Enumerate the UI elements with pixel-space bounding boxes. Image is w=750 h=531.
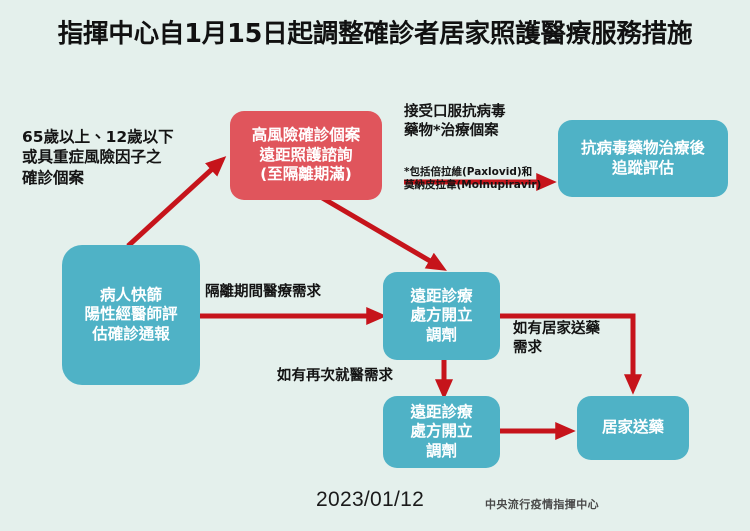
edge-label-oral-antiviral: 接受口服抗病毒 藥物*治療個案 xyxy=(404,103,554,141)
edge-label-home-delivery-need: 如有居家送藥 需求 xyxy=(513,320,633,358)
node-patient-report: 病人快篩 陽性經醫師評 估確診通報 xyxy=(62,245,200,385)
node-telemedicine-1-label: 遠距診療 處方開立 調劑 xyxy=(410,287,472,346)
node-telemedicine-1: 遠距診療 處方開立 調劑 xyxy=(383,272,500,360)
node-telemedicine-2-label: 遠距診療 處方開立 調劑 xyxy=(410,403,472,462)
node-antiviral-followup-label: 抗病毒藥物治療後 追蹤評估 xyxy=(581,139,705,178)
edge-label-isolation-need: 隔離期間醫療需求 xyxy=(205,283,385,302)
node-home-delivery: 居家送藥 xyxy=(577,396,689,460)
node-high-risk-criteria: 65歲以上、12歲以下 或具重症風險因子之 確診個案 xyxy=(22,127,222,188)
node-telemedicine-2: 遠距診療 處方開立 調劑 xyxy=(383,396,500,468)
footer-date: 2023/01/12 xyxy=(316,488,424,512)
node-high-risk-case-label: 高風險確診個案 遠距照護諮詢 (至隔離期滿) xyxy=(252,126,361,185)
node-antiviral-followup: 抗病毒藥物治療後 追蹤評估 xyxy=(558,120,728,197)
node-patient-report-label: 病人快篩 陽性經醫師評 估確診通報 xyxy=(84,286,177,345)
arrow-highrisk-to-telemedicine1 xyxy=(319,196,442,268)
infographic-canvas: 指揮中心自1月15日起調整確診者居家照護醫療服務措施 65歲以上、12歲 xyxy=(0,0,750,531)
edge-label-repeat-visit-need: 如有再次就醫需求 xyxy=(277,367,457,386)
edge-footnote-oral-antiviral: *包括倍拉維(Paxlovid)和 莫納皮拉韋(Molnupiravir) xyxy=(404,166,564,192)
footer-organization: 中央流行疫情指揮中心 xyxy=(485,496,599,512)
node-home-delivery-label: 居家送藥 xyxy=(602,418,664,438)
node-high-risk-case: 高風險確診個案 遠距照護諮詢 (至隔離期滿) xyxy=(230,111,382,200)
